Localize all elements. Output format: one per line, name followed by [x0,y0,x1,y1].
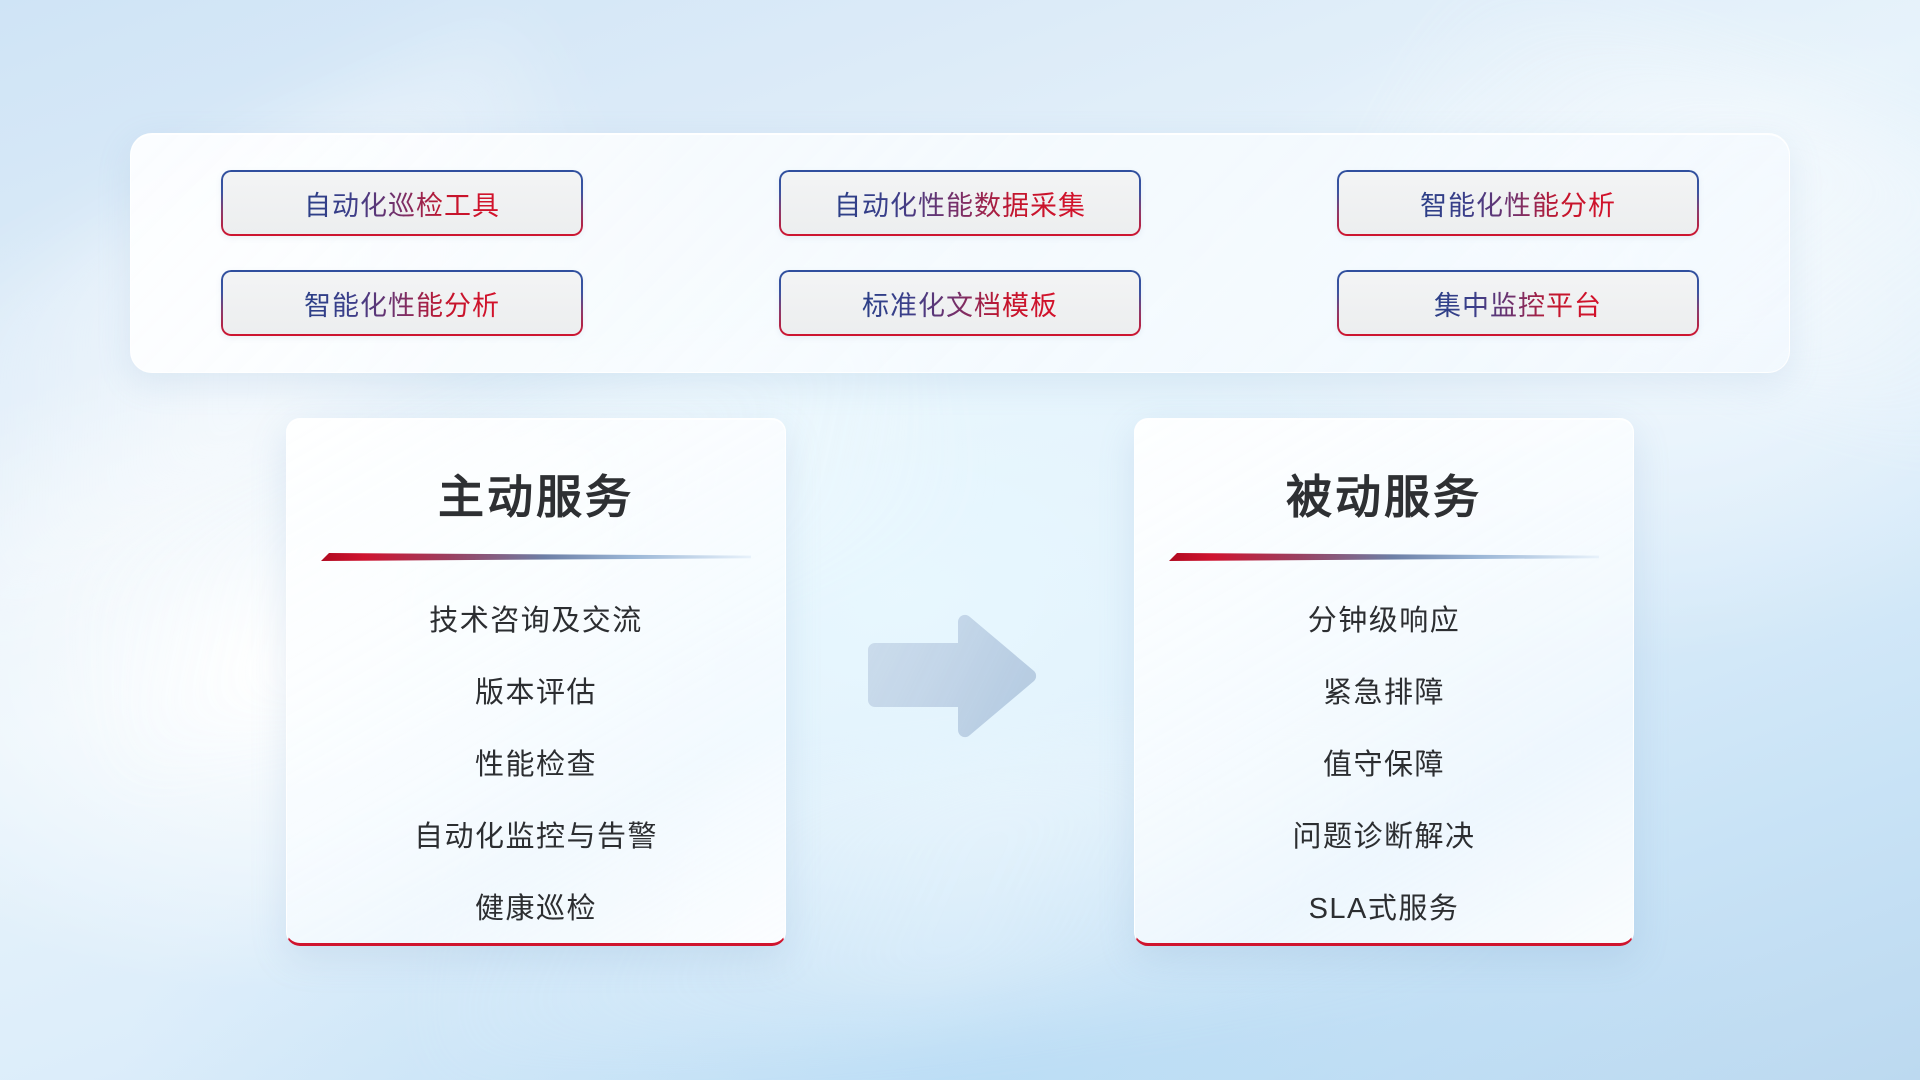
list-item: 健康巡检 [475,885,597,927]
list-item: SLA式服务 [1309,885,1460,927]
capability-pill-label: 智能化性能分析 [1420,184,1616,223]
card-title: 被动服务 [1286,461,1482,527]
list-item: 分钟级响应 [1308,597,1461,639]
service-item-list: 分钟级响应 紧急排障 值守保障 问题诊断解决 SLA式服务 [1169,597,1599,927]
list-item: 性能检查 [475,741,597,783]
service-card-proactive: 主动服务 技术咨询及交流 版本评估 性能检查 [286,418,786,946]
capability-pill-intelligent-performance-analysis[interactable]: 智能化性能分析 [1337,170,1699,236]
card-divider [321,551,751,563]
capability-row-2: 智能化性能分析 标准化文档模板 集中监控平台 [171,270,1749,336]
card-title: 主动服务 [438,461,634,527]
capability-pill-label: 智能化性能分析 [304,284,500,323]
capability-pill-label: 自动化巡检工具 [304,184,500,223]
arrow-right-icon [862,610,1042,740]
slide-canvas: 自动化巡检工具 自动化性能数据采集 智能化性能分析 智能化性能分析 标准化文档模… [0,0,1920,1080]
service-item-list: 技术咨询及交流 版本评估 性能检查 自动化监控与告警 健康巡检 [321,597,751,927]
capability-pill-label: 标准化文档模板 [862,284,1058,323]
capability-panel: 自动化巡检工具 自动化性能数据采集 智能化性能分析 智能化性能分析 标准化文档模… [130,133,1790,373]
list-item: 值守保障 [1323,741,1445,783]
capability-pill-automated-performance-data-collection[interactable]: 自动化性能数据采集 [779,170,1141,236]
list-item: 版本评估 [475,669,597,711]
list-item: 问题诊断解决 [1292,813,1475,855]
card-divider [1169,551,1599,563]
capability-pill-standardized-document-template[interactable]: 标准化文档模板 [779,270,1141,336]
capability-row-1: 自动化巡检工具 自动化性能数据采集 智能化性能分析 [171,170,1749,236]
capability-pill-intelligent-performance-analysis-2[interactable]: 智能化性能分析 [221,270,583,336]
list-item: 自动化监控与告警 [414,813,658,855]
capability-pill-label: 集中监控平台 [1434,284,1602,323]
capability-pill-automated-inspection-tool[interactable]: 自动化巡检工具 [221,170,583,236]
service-card-reactive: 被动服务 分钟级响应 紧急排障 值守保障 [1134,418,1634,946]
list-item: 紧急排障 [1323,669,1445,711]
capability-pill-centralized-monitoring-platform[interactable]: 集中监控平台 [1337,270,1699,336]
capability-pill-label: 自动化性能数据采集 [834,184,1086,223]
list-item: 技术咨询及交流 [429,597,643,639]
